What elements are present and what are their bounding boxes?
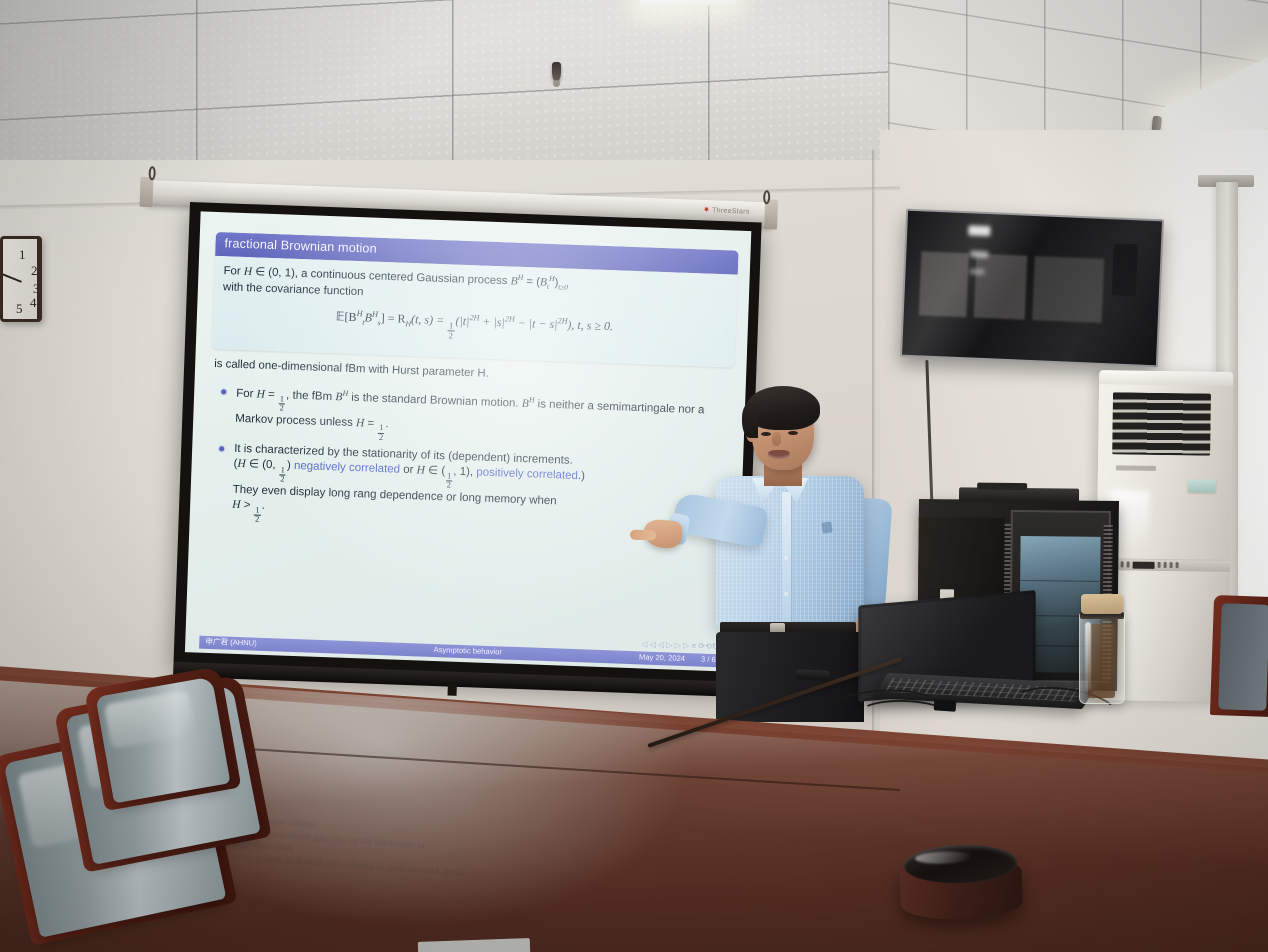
eq-close: ] = R: [381, 311, 406, 326]
screen-brand-label: ✷ThreeStars: [703, 205, 750, 216]
tv-window-reflection: [919, 252, 1104, 323]
text-frag: .): [578, 471, 585, 483]
ac-display: [1133, 561, 1155, 568]
shirt-button: [784, 592, 788, 596]
presenter-hair: [746, 386, 820, 430]
chair-far-right[interactable]: [1210, 595, 1268, 717]
text-frag: = (: [523, 275, 540, 288]
presenter-index-finger: [630, 530, 656, 541]
tv-light-reflection: [970, 251, 988, 259]
chair-back-left[interactable]: [96, 677, 231, 804]
definition-block: fractional Brownian motion For H ∈ (0, 1…: [212, 232, 739, 367]
bullet-list: For H = 12, the fBm BH is the standard B…: [232, 384, 734, 540]
shirt-placket: [782, 492, 791, 628]
shirt-button: [784, 520, 788, 524]
shirt-button: [784, 556, 788, 560]
presenter-eye: [788, 431, 798, 435]
covariance-equation: 𝔼[BHtBHs] = RH(t, s) = 12(|t|2H + |s|2H …: [221, 305, 727, 350]
case-end-left: [139, 177, 153, 207]
ac-control-panel[interactable]: [1105, 559, 1221, 571]
ac-top: [1099, 370, 1233, 386]
bullet2-line4: H > 12.: [232, 499, 265, 512]
presenter-remote[interactable]: [796, 669, 830, 681]
clock-numeral: 5: [16, 301, 23, 317]
shirt-pocket-logo: [821, 521, 832, 533]
wall-mounted-tv[interactable]: [900, 209, 1164, 368]
block-body: For H ∈ (0, 1), a continuous centered Ga…: [212, 256, 738, 368]
clock-numeral: 1: [19, 247, 26, 263]
blue-term-negative: negatively correlated: [294, 460, 400, 476]
ac-logo: [1116, 465, 1156, 471]
clock-numeral: 4: [30, 295, 37, 311]
math-sub-tge0: t≥0: [558, 283, 568, 291]
clock-hand: [0, 265, 22, 283]
eq-rhs: − |t − s|: [514, 316, 557, 332]
frac-den: 2: [447, 331, 454, 340]
eq-rhs: (|t|: [455, 314, 469, 328]
presenter-mouth: [768, 450, 790, 459]
eq-rhs-end: ), t, s ≥ 0.: [567, 318, 613, 334]
eq-fraction: 12: [447, 321, 454, 340]
presenter-nose: [772, 432, 781, 446]
bullet2-line3: They even display long rang dependence o…: [233, 484, 557, 508]
sprinkler-head-icon: [552, 62, 561, 82]
bottle-cap[interactable]: [1081, 594, 1123, 614]
eq-args: (t, s) =: [411, 312, 448, 327]
text-frag: , 1),: [453, 466, 476, 479]
text-frag: ∈ (: [425, 465, 446, 478]
ac-sticker: [1188, 479, 1216, 492]
eq-rhs: + |s|: [479, 315, 505, 330]
room-scene: 1 2 3 4 5 ✷ThreeStars fractional Brownia…: [0, 0, 1268, 952]
text-frag: >: [240, 499, 254, 511]
clock-numeral: 2: [31, 263, 38, 279]
tv-light-reflection: [969, 268, 984, 275]
brand-name: ThreeStars: [712, 207, 750, 215]
text-frag: or: [400, 464, 417, 477]
wall-clock: 1 2 3 4 5: [0, 236, 42, 322]
eq-sup: 2H: [505, 315, 515, 324]
tea-bottle[interactable]: [1079, 594, 1125, 704]
brand-star-icon: ✷: [703, 205, 710, 214]
math-sub-t: t: [547, 283, 549, 291]
ac-vent-icon: [1112, 392, 1211, 455]
tv-light-reflection: [968, 225, 990, 236]
cable-plug: [934, 699, 957, 712]
eq-lhs: 𝔼[B: [336, 310, 357, 325]
tv-dark-panel: [1112, 244, 1138, 297]
text-frag: .: [262, 500, 266, 512]
screen-pull-tab[interactable]: [447, 684, 456, 696]
bottle-contents: [1088, 624, 1115, 698]
blue-term-positive: positively correlated: [476, 467, 578, 483]
text-frag: ∈ (0,: [246, 459, 279, 472]
text-frag: For: [223, 265, 244, 278]
bottle-highlight: [1085, 622, 1091, 690]
presenter-eye: [761, 432, 771, 436]
eq-sup: 2H: [557, 317, 567, 326]
cup-with-lid[interactable]: [899, 843, 1024, 921]
cabinet-top-equipment: [959, 487, 1079, 502]
